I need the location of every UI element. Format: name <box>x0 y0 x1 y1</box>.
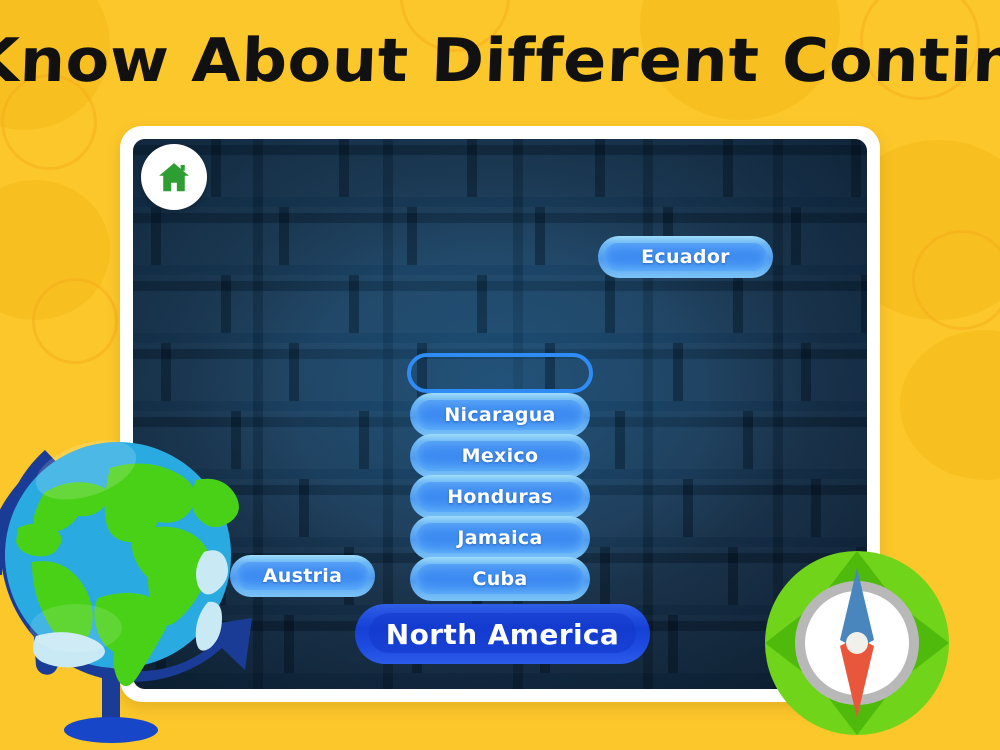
home-icon <box>155 158 193 196</box>
page-title: Know About Different Continents <box>0 26 1000 96</box>
empty-tile-slot[interactable] <box>407 353 593 393</box>
compass-illustration <box>762 548 952 738</box>
tile-label: Mexico <box>462 445 539 467</box>
tile-label: Ecuador <box>641 246 730 268</box>
stack-tile-4[interactable]: Jamaica <box>410 516 590 560</box>
tile-label: Jamaica <box>457 527 542 549</box>
stack-tile-1[interactable]: Nicaragua <box>410 393 590 437</box>
stack-tile-5[interactable]: Cuba <box>410 557 590 601</box>
base-tile-north-america[interactable]: North America <box>355 604 650 664</box>
stack-tile-3[interactable]: Honduras <box>410 475 590 519</box>
tile-label: Nicaragua <box>444 404 555 426</box>
app-root: Know About Different Continents Nicaragu… <box>0 0 1000 750</box>
tile-label: Cuba <box>472 568 527 590</box>
floating-tile-ecuador[interactable]: Ecuador <box>598 236 773 278</box>
tile-label: Honduras <box>447 486 553 508</box>
home-button[interactable] <box>141 144 207 210</box>
globe-illustration <box>0 420 290 750</box>
base-tile-label: North America <box>386 618 619 651</box>
stack-tile-2[interactable]: Mexico <box>410 434 590 478</box>
